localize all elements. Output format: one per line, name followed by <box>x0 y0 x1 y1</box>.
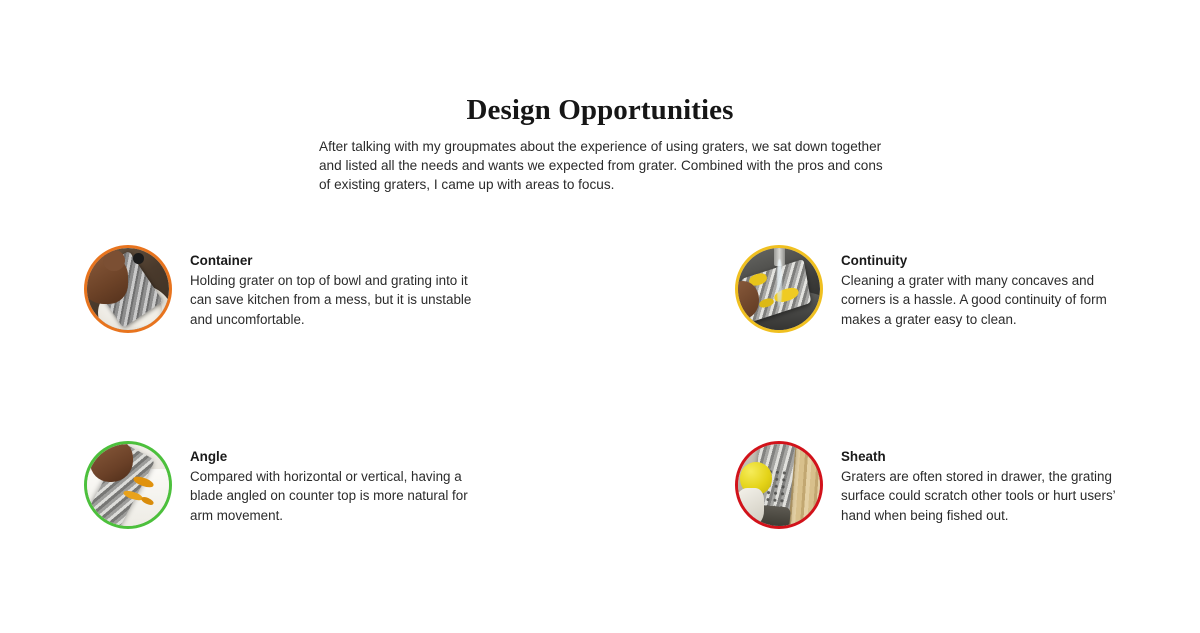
opportunity-title-container: Container <box>190 252 480 269</box>
opportunity-title-sheath: Sheath <box>841 448 1131 465</box>
opportunity-text-continuity: Continuity Cleaning a grater with many c… <box>841 245 1131 329</box>
opportunity-description-sheath: Graters are often stored in drawer, the … <box>841 467 1131 525</box>
opportunity-description-angle: Compared with horizontal or vertical, ha… <box>190 467 480 525</box>
opportunity-card-container: Container Holding grater on top of bowl … <box>84 245 480 333</box>
opportunity-title-continuity: Continuity <box>841 252 1131 269</box>
opportunity-card-angle: Angle Compared with horizontal or vertic… <box>84 441 480 529</box>
opportunity-description-continuity: Cleaning a grater with many concaves and… <box>841 271 1131 329</box>
intro-paragraph: After talking with my groupmates about t… <box>319 137 885 195</box>
opportunity-image-container <box>84 245 172 333</box>
opportunity-description-container: Holding grater on top of bowl and gratin… <box>190 271 480 329</box>
opportunity-card-continuity: Continuity Cleaning a grater with many c… <box>735 245 1131 333</box>
opportunity-image-continuity <box>735 245 823 333</box>
opportunity-image-angle <box>84 441 172 529</box>
opportunity-text-container: Container Holding grater on top of bowl … <box>190 245 480 329</box>
opportunity-card-sheath: Sheath Graters are often stored in drawe… <box>735 441 1131 529</box>
page-title: Design Opportunities <box>0 95 1200 127</box>
opportunity-text-angle: Angle Compared with horizontal or vertic… <box>190 441 480 525</box>
opportunity-text-sheath: Sheath Graters are often stored in drawe… <box>841 441 1131 525</box>
opportunity-title-angle: Angle <box>190 448 480 465</box>
opportunity-image-sheath <box>735 441 823 529</box>
